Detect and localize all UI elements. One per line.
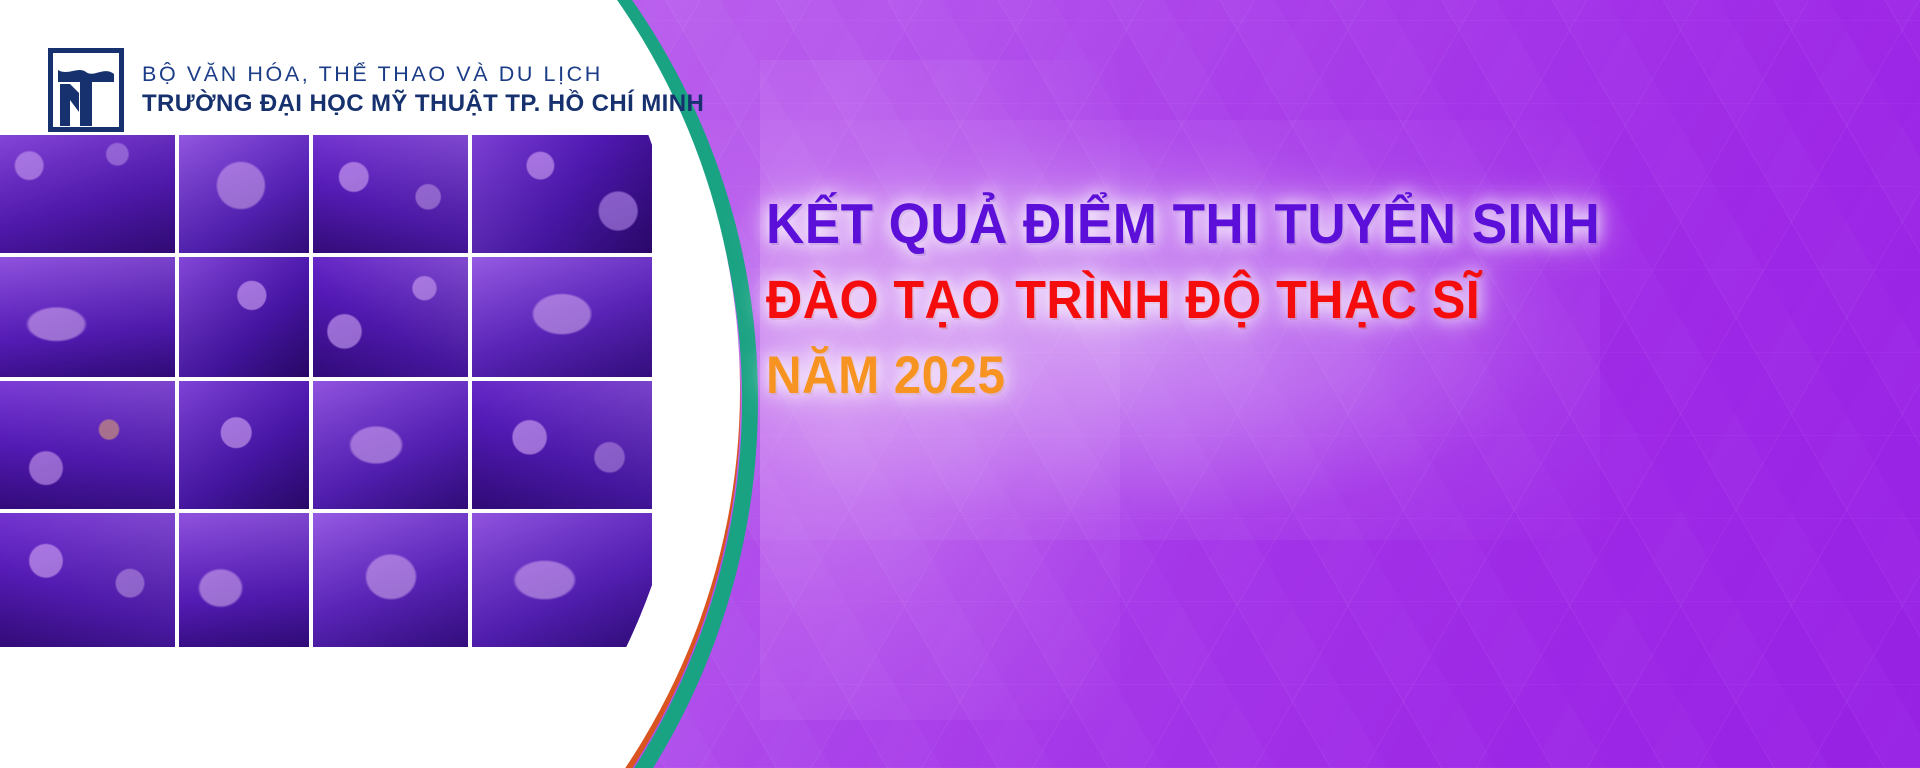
photo-gallery-visit-icon [0, 257, 175, 377]
headline-line-1: KẾT QUẢ ĐIỂM THI TUYỂN SINH [766, 196, 1600, 253]
collage-tile-9 [0, 381, 175, 509]
collage-tile-10 [179, 381, 309, 509]
photo-drawing-studio-icon [179, 513, 309, 647]
collage-tile-12 [472, 381, 652, 509]
collage-tile-1 [0, 135, 175, 253]
headline-line-3: NĂM 2025 [766, 349, 1600, 402]
photo-clay-modelling-icon [179, 381, 309, 509]
collage-tile-2 [179, 135, 309, 253]
photo-film-crew-icon [472, 135, 652, 253]
photo-sculpture-class-icon [179, 257, 309, 377]
collage-tile-13 [0, 513, 175, 647]
admission-result-banner: BỘ VĂN HÓA, THỂ THAO VÀ DU LỊCH TRƯỜNG Đ… [0, 0, 1920, 768]
photo-art-display-icon [472, 381, 652, 509]
photo-figure-drawing-icon [179, 135, 309, 253]
logo-text-group: BỘ VĂN HÓA, THỂ THAO VÀ DU LỊCH TRƯỜNG Đ… [142, 62, 704, 117]
collage-tile-14 [179, 513, 309, 647]
photo-ceramics-table-icon [313, 257, 468, 377]
ministry-name: BỘ VĂN HÓA, THỂ THAO VÀ DU LỊCH [142, 62, 704, 87]
photo-collage [0, 135, 640, 635]
collage-tile-5 [0, 257, 175, 377]
photo-exhibition-hall-icon [472, 257, 652, 377]
photo-craft-workshop-icon [0, 381, 175, 509]
collage-tile-8 [472, 257, 652, 377]
headline-line-2: ĐÀO TẠO TRÌNH ĐỘ THẠC SĨ [766, 273, 1600, 327]
university-name: TRƯỜNG ĐẠI HỌC MỸ THUẬT TP. HỒ CHÍ MINH [142, 90, 704, 118]
photo-event-booth-icon [313, 381, 468, 509]
photo-studio-painting-icon [0, 135, 175, 253]
collage-tile-3 [313, 135, 468, 253]
collage-tile-4 [472, 135, 652, 253]
photo-print-workshop-icon [313, 135, 468, 253]
collage-tile-16 [472, 513, 652, 647]
collage-tile-15 [313, 513, 468, 647]
institution-logo-lockup: BỘ VĂN HÓA, THỂ THAO VÀ DU LỊCH TRƯỜNG Đ… [48, 48, 704, 132]
mt-monogram-logo-icon [48, 48, 124, 132]
collage-tile-11 [313, 381, 468, 509]
photo-open-studio-icon [472, 513, 652, 647]
photo-group-critique-icon [313, 513, 468, 647]
collage-tile-6 [179, 257, 309, 377]
photo-lecture-room-icon [0, 513, 175, 647]
collage-tile-7 [313, 257, 468, 377]
headline-group: KẾT QUẢ ĐIỂM THI TUYỂN SINH ĐÀO TẠO TRÌN… [766, 196, 1663, 402]
